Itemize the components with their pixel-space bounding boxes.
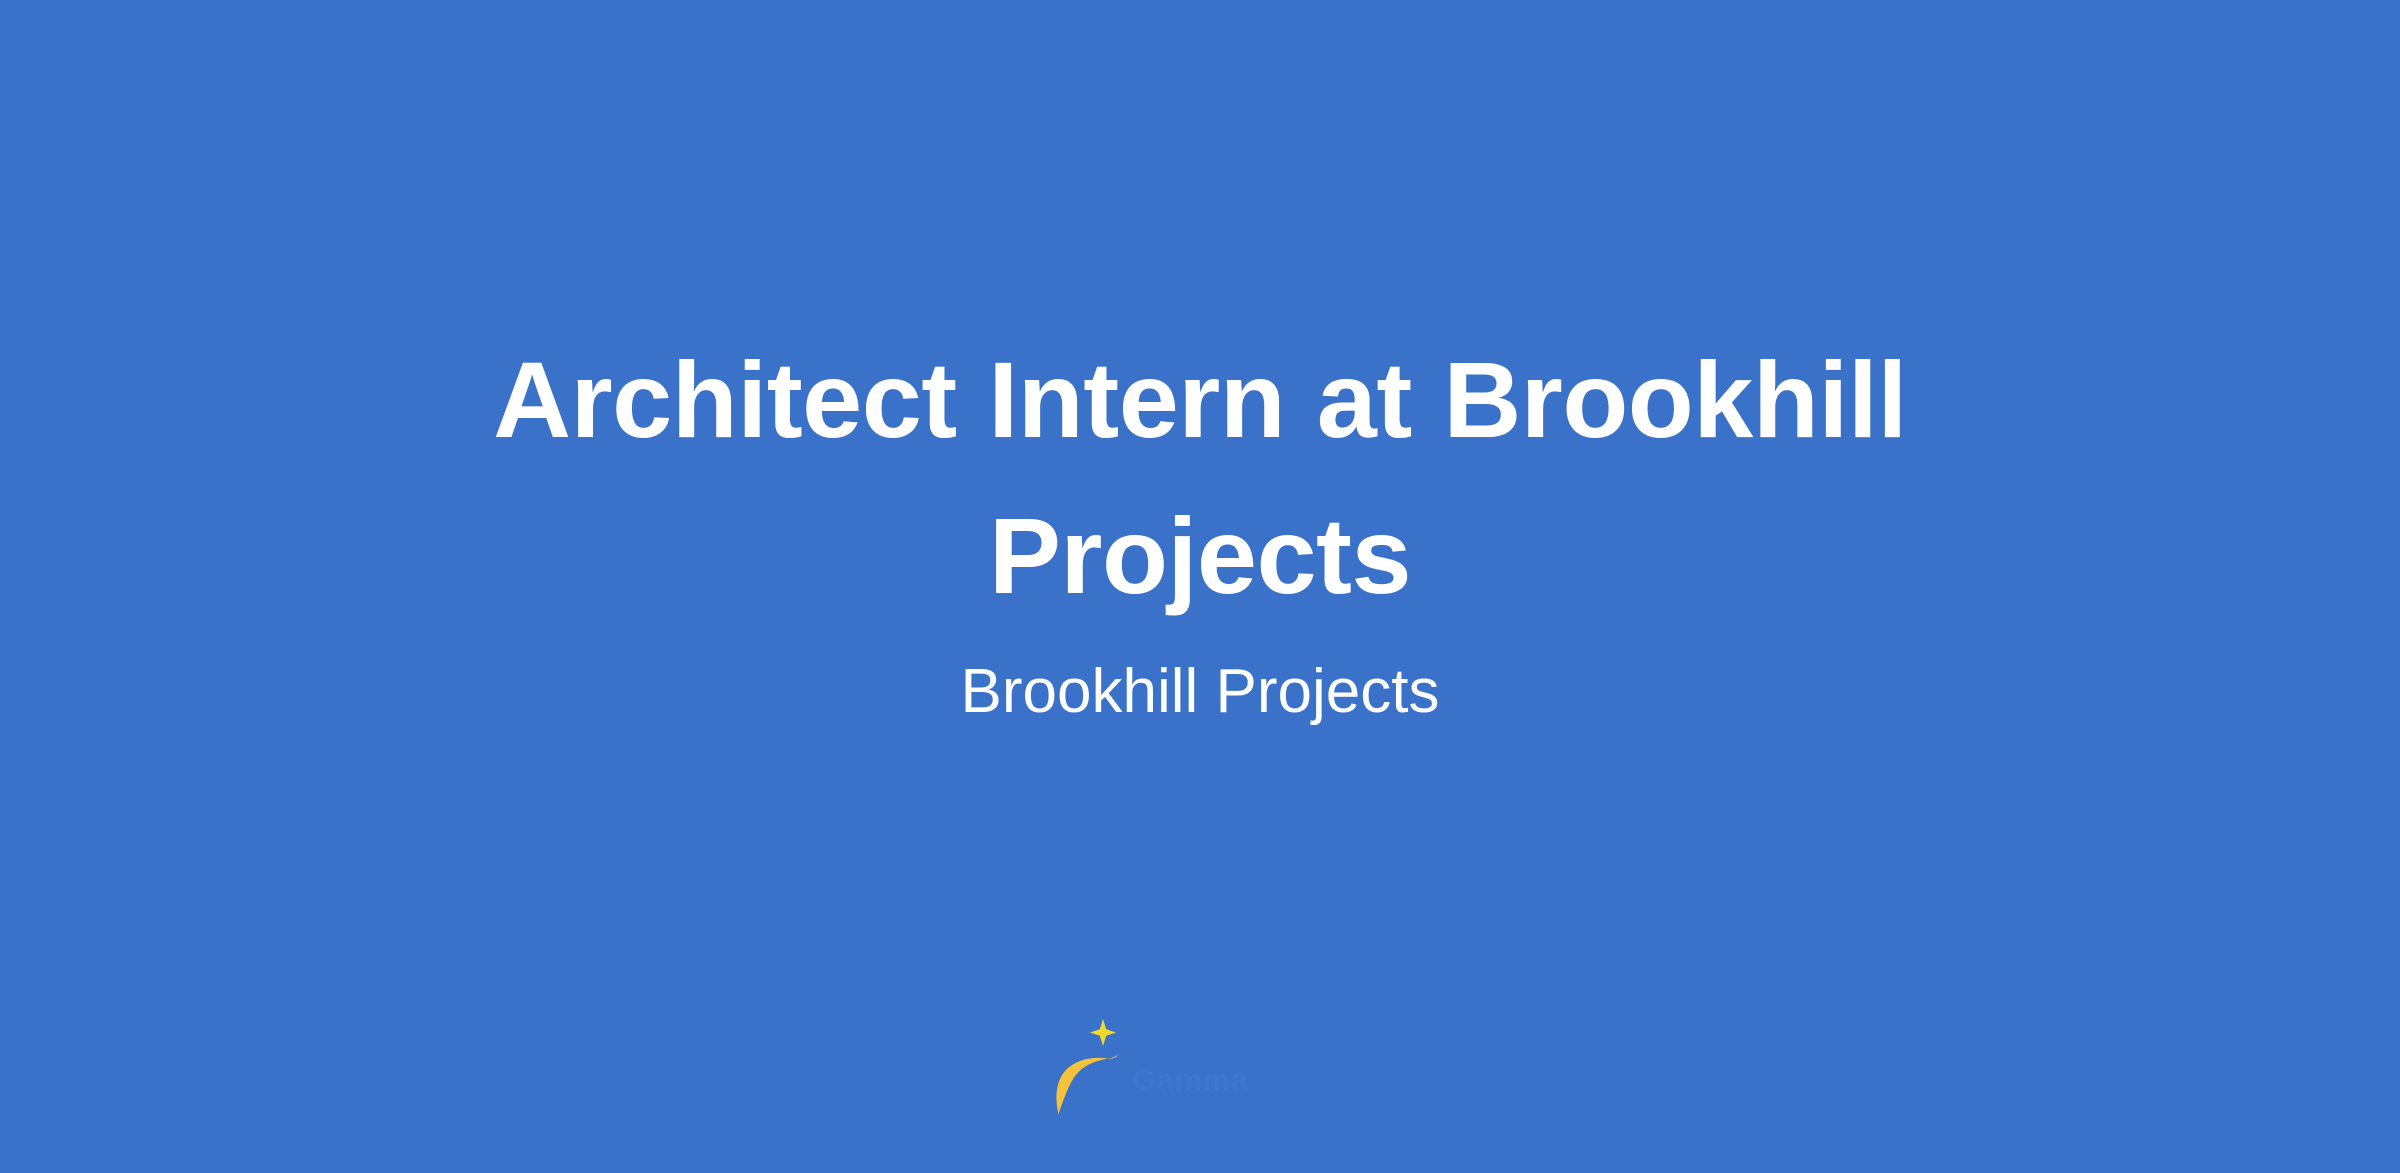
sparkle-swoosh-logo-icon — [1050, 1013, 1128, 1117]
title-block: Architect Intern at Brookhill Projects B… — [380, 322, 2020, 731]
brand-logo: Gamma — [1050, 1011, 1350, 1117]
page-title: Architect Intern at Brookhill Projects — [380, 322, 2020, 633]
title-slide: Architect Intern at Brookhill Projects B… — [0, 0, 2400, 1173]
logo-wordmark: Gamma — [1128, 1064, 1248, 1117]
page-subtitle: Brookhill Projects — [380, 653, 2020, 731]
